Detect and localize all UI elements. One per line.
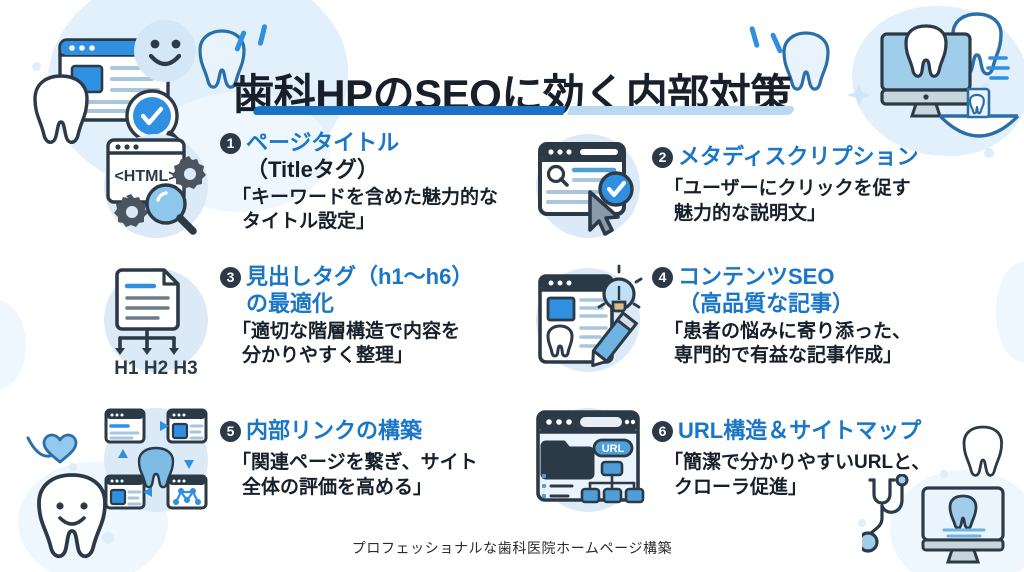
item-5-heading-line1: 内部リンクの構築 [246,418,422,443]
item-1-text: 1ページタイトル （Titleタグ） 「キーワードを含めた魅力的な タイトル設定… [216,126,498,235]
spark-left-1 [234,30,247,52]
item-3: H1 H2 H3 3見出しタグ（h1〜h6） の最適化 「適切な階層構造で内容を… [96,260,473,378]
item-4-text: 4コンテンツSEO （高品質な記事） 「患者の悩みに寄り添った、 専門的で有益な… [648,260,911,369]
item-1-icon: <HTML> [96,126,216,244]
spark-right-2 [770,32,784,54]
icon-label-h1h2h3: H1 H2 H3 [114,358,197,378]
icon-label-html: <HTML> [114,168,177,185]
item-2-description: 「ユーザーにクリックを促す 魅力的な説明文」 [652,177,918,226]
item-4-desc-line2: 専門的で有益な記事作成」 [664,344,911,369]
item-5: 5内部リンクの構築 「関連ページを繋ぎ、サイト 全体の評価を高める」 [96,400,478,518]
item-6-desc-line1: 「簡潔で分かりやすいURLと、 [664,452,930,473]
footer-caption: プロフェッショナルな歯科医院ホームページ構築 [0,538,1024,558]
item-4: 4コンテンツSEO （高品質な記事） 「患者の悩みに寄り添った、 専門的で有益な… [528,260,911,378]
item-3-desc-line2: 分かりやすく整理」 [232,344,473,369]
item-1-description: 「キーワードを含めた魅力的な タイトル設定」 [220,186,498,235]
item-3-heading-line2: の最適化 [220,291,473,318]
item-2: 2メタディスクリプション 「ユーザーにクリックを促す 魅力的な説明文」 [528,126,918,244]
item-6-text: 6URL構造＆サイトマップ 「簡潔で分かりやすいURLと、 クローラ促進」 [648,400,930,500]
item-5-desc-line1: 「関連ページを繋ぎ、サイト [232,452,478,473]
document-hierarchy-h1h2h3-icon: H1 H2 H3 [96,260,216,378]
item-3-text: 3見出しタグ（h1〜h6） の最適化 「適切な階層構造で内容を 分かりやすく整理… [216,260,473,369]
item-1-badge: 1 [220,133,241,154]
item-2-text: 2メタディスクリプション 「ユーザーにクリックを促す 魅力的な説明文」 [648,126,918,226]
item-1-heading: 1ページタイトル [220,130,498,157]
item-6: URL [528,400,930,518]
internal-links-cycle-tooth-icon [96,400,216,518]
html-browser-gears-magnifier-icon: <HTML> [96,126,216,244]
item-6-icon: URL [528,400,648,518]
icon-label-url: URL [602,443,625,455]
item-4-badge: 4 [652,267,673,288]
item-4-description: 「患者の悩みに寄り添った、 専門的で有益な記事作成」 [652,320,911,369]
underline-segment-dark [252,106,566,115]
item-4-icon [528,260,648,378]
item-1-heading-line1: ページタイトル [246,130,399,155]
item-5-description: 「関連ページを繋ぎ、サイト 全体の評価を高める」 [220,451,478,500]
item-2-desc-line1: 「ユーザーにクリックを促す [664,178,911,199]
item-2-badge: 2 [652,147,673,168]
item-2-heading-line1: メタディスクリプション [678,144,918,169]
item-1-desc-line2: タイトル設定」 [232,210,498,235]
item-1-heading-line2: （Titleタグ） [220,157,498,184]
spark-right-1 [749,26,760,49]
item-3-heading-line1: 見出しタグ（h1〜h6） [246,264,473,289]
item-4-desc-line1: 「患者の悩みに寄り添った、 [664,321,911,342]
item-3-icon: H1 H2 H3 [96,260,216,378]
item-5-badge: 5 [220,421,241,442]
title-underline [252,106,792,115]
item-4-heading: 4コンテンツSEO [652,264,911,291]
item-6-desc-line2: クローラ促進」 [664,476,930,501]
item-6-badge: 6 [652,421,673,442]
item-5-heading: 5内部リンクの構築 [220,418,478,445]
item-6-heading: 6URL構造＆サイトマップ [652,418,930,445]
item-2-heading: 2メタディスクリプション [652,144,918,171]
item-5-text: 5内部リンクの構築 「関連ページを繋ぎ、サイト 全体の評価を高める」 [216,400,478,500]
browser-search-check-cursor-icon [528,126,648,244]
item-3-desc-line1: 「適切な階層構造で内容を [232,321,460,342]
item-2-desc-line2: 魅力的な説明文」 [664,202,918,227]
item-5-icon [96,400,216,518]
article-lightbulb-pencil-tooth-icon [528,260,648,378]
item-3-badge: 3 [220,267,241,288]
item-5-desc-line2: 全体の評価を高める」 [232,476,478,501]
item-1: <HTML> 1ページタイトル [96,126,498,244]
item-3-description: 「適切な階層構造で内容を 分かりやすく整理」 [220,320,473,369]
underline-segment-light [567,106,795,115]
item-1-desc-line1: 「キーワードを含めた魅力的な [232,187,498,208]
spark-left-2 [257,24,267,47]
items-grid: <HTML> 1ページタイトル [0,118,1024,528]
url-folder-sitemap-icon: URL [528,400,648,518]
item-6-heading-line1: URL構造＆サイトマップ [678,418,921,443]
item-2-icon [528,126,648,244]
item-4-heading-line2: （高品質な記事） [652,291,911,318]
item-4-heading-line1: コンテンツSEO [678,264,834,289]
item-6-description: 「簡潔で分かりやすいURLと、 クローラ促進」 [652,451,930,500]
header: 歯科HPのSEOに効く内部対策 [0,18,1024,110]
item-3-heading: 3見出しタグ（h1〜h6） [220,264,473,291]
infographic-poster: 歯科HPのSEOに効く内部対策 <HTML> [0,0,1024,572]
